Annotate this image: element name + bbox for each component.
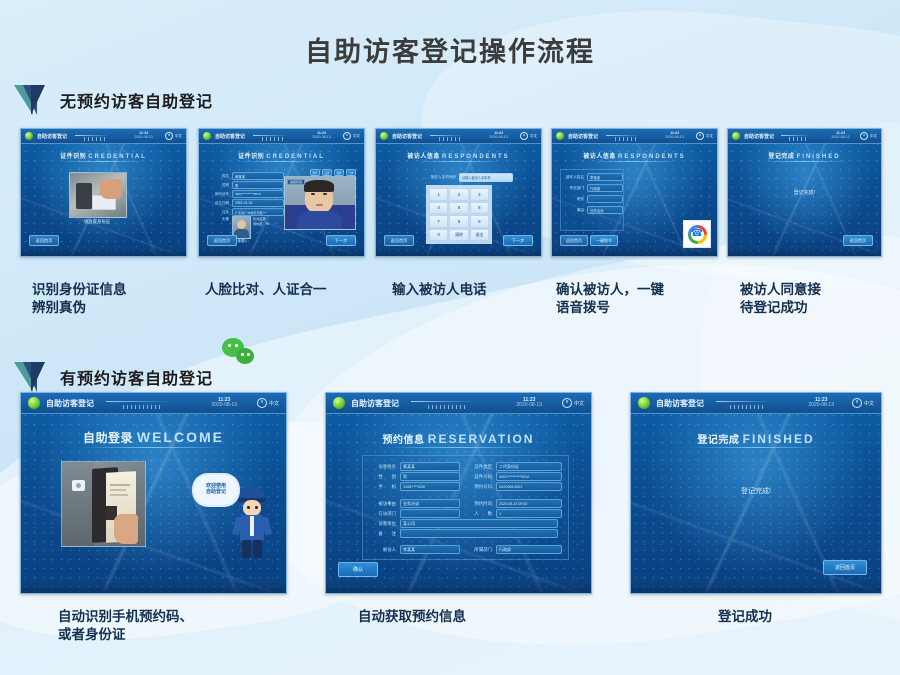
phone-input-label: 被访人手机号码 [426,175,456,180]
confirm-button[interactable]: 确认 [338,562,378,577]
green-circle-logo-icon [28,397,40,409]
screen-heading: 预约信息 RESERVATION [326,431,591,446]
kiosk-app-title: 自助访客登记 [568,133,598,140]
caption-step-1: 识别身份证信息 辨别真伪 [32,281,192,317]
kiosk-app-title: 自助访客登记 [215,133,245,140]
field-value[interactable]: 业务洽谈 [587,206,623,214]
mascot-speech-bubble: 欢迎使用 自助登记 [194,475,238,505]
kiosk-clock: 11:23 2020-08-13 [665,132,683,140]
field-value[interactable]: 男 [232,181,284,189]
field-row: 在访部门 [370,509,460,518]
kiosk-clock: 11:23 2020-08-13 [134,132,152,140]
kiosk-clock: 11:23 2020-08-13 [831,132,849,140]
field-value[interactable]: 1991-01-01 [232,199,284,207]
keypad-key-7[interactable]: 7 [429,215,448,228]
camera-badge: 拍照核验 [287,179,305,185]
camera-tool-refresh[interactable]: 刷新 [310,169,320,176]
photo-caption: 请放置身份证 [69,219,125,225]
field-row: 被访人姓名 李某某 [564,173,623,181]
scan-preview-photo [61,461,146,547]
kiosk-app-title: 自助访客登记 [656,398,704,409]
field-row: 手 机 1351****228 [370,482,460,491]
keypad-key-5[interactable]: 5 [449,202,468,215]
green-circle-logo-icon [25,132,33,140]
caption-step-6: 自动识别手机预约码、 或者身份证 [58,608,288,644]
gear-icon[interactable] [520,132,528,140]
id-scan-photo [69,172,127,218]
finish-message: 登记完成! [728,189,881,196]
screen-heading: 证件识别 CREDENTIAL [199,151,364,160]
field-row: 备 注 [370,529,558,538]
kiosk-clock: 11:23 2020-08-13 [312,132,330,140]
field-value[interactable]: 黄某某 [232,172,284,180]
kiosk-app-title: 自助访客登记 [46,398,94,409]
field-row: 身份证号 4401**********0012 [209,190,284,198]
section-heading-walkin: 无预约访客自助登记 [14,85,213,115]
field-value[interactable]: 李某某 [400,545,460,554]
kiosk-clock: 11:23 2020-08-13 [211,398,237,409]
green-circle-logo-icon [333,397,345,409]
field-row: 事由 业务洽谈 [564,206,623,214]
gear-icon[interactable] [852,398,862,408]
field-row: 所在部门 行政部 [564,184,623,192]
kiosk-settings[interactable]: 中文 [520,132,537,140]
page-title: 自助访客登记操作流程 [0,30,900,69]
field-value[interactable]: 李某某 [587,173,623,181]
gear-icon[interactable] [257,398,267,408]
field-value[interactable] [400,509,460,518]
camera-tool-fullscreen[interactable]: 全屏 [346,169,356,176]
v-marker-icon [14,85,52,115]
green-circle-logo-icon [380,132,388,140]
field-value[interactable]: 1 [496,509,562,518]
keypad-key-1[interactable]: 1 [429,188,448,201]
back-button[interactable]: 返回首页 [560,235,588,246]
v-marker-icon [14,362,52,392]
kiosk-settings[interactable]: 中文 [165,132,182,140]
keypad-key-4[interactable]: 4 [429,202,448,215]
wechat-icon [222,338,256,368]
field-value[interactable]: 1351****228 [400,482,460,491]
green-circle-logo-icon [203,132,211,140]
kiosk-settings[interactable]: 中文 [860,132,877,140]
kiosk-screen-reservation[interactable]: 自助访客登记 11:23 2020-08-13 中文 预约信息 RESERVAT… [325,392,592,594]
home-button[interactable]: 返回首页 [823,560,867,575]
field-row: 证件号码 4401**********0012 [466,472,562,481]
phone-input[interactable]: 请输入被访人手机号 [459,173,513,182]
call-button[interactable]: 一键拨号 [590,235,618,246]
field-row: 证件类型 二代身份证 [466,462,562,471]
camera-tool-snapshot[interactable]: 截图 [334,169,344,176]
kiosk-screen-credential[interactable]: 自助访客登记 11:23 2020-08-13 中文 证件识别 CREDENTI… [20,128,187,257]
green-circle-logo-icon [556,132,564,140]
numeric-keypad[interactable]: 1 2 3 4 5 6 7 8 9 0 清除 退出 [426,185,492,244]
back-button[interactable]: 返回首页 [207,235,237,246]
field-row: 性别 男 [209,181,284,189]
field-value[interactable]: 某公司 [400,519,558,528]
camera-toolbar[interactable]: 刷新 设置 截图 全屏 [310,169,356,176]
kiosk-screen-credential-match[interactable]: 自助访客登记 11:23 2020-08-13 中文 证件识别 CREDENTI… [198,128,365,257]
field-value[interactable]: 二代身份证 [496,462,562,471]
next-button[interactable]: 下一步 [326,235,356,246]
field-row: 性 别 男 [370,472,460,481]
field-value[interactable]: 2020-08-13 09:30 [496,499,562,508]
field-value[interactable]: 4401**********0012 [232,190,284,198]
kiosk-clock: 11:23 2020-08-13 [489,132,507,140]
kiosk-clock: 11:23 2020-08-13 [516,398,542,409]
field-row: 被访事由 业务洽谈 [370,499,460,508]
field-value[interactable]: 男 [400,472,460,481]
field-row: 预约时间 2020-08-13 09:30 [466,499,562,508]
gear-icon[interactable] [165,132,173,140]
kiosk-app-title: 自助访客登记 [744,133,774,140]
kiosk-app-title: 自助访客登记 [37,133,67,140]
kiosk-screen-finished[interactable]: 自助访客登记 11:23 2020-08-13 中文 登记完成 FINISHED… [727,128,882,257]
portrait-side-note: 比对结果相似度：99 [253,217,269,227]
field-row: 预约号码 20200813001 [466,482,562,491]
field-value[interactable]: 业务洽谈 [400,499,460,508]
police-mascot-icon: 欢迎使用 自助登记 [194,475,272,559]
section-heading-reserved: 有预约访客自助登记 [14,362,213,392]
field-value[interactable]: 行政部 [587,184,623,192]
field-value[interactable]: 行政部 [496,545,562,554]
field-value[interactable]: 20200813001 [496,482,562,491]
field-row: 姓名 黄某某 [209,172,284,180]
screen-heading: 登记完成 FINISHED [631,431,881,446]
caption-step-4: 确认被访人，一键 语音拨号 [556,281,726,317]
kiosk-settings[interactable]: 中文 [257,398,279,408]
gear-icon[interactable] [343,132,351,140]
field-row: 人 数 1 [466,509,562,518]
field-row: 被访人 李某某 [370,545,460,554]
finish-message: 登记完成! [631,486,881,496]
kiosk-app-title: 自助访客登记 [351,398,399,409]
kiosk-screen-respondents-confirm[interactable]: 自助访客登记 11:23 2020-08-13 中文 被访人信息 RESPOND… [551,128,718,257]
phone-input-row[interactable]: 被访人手机号码 请输入被访人手机号 [426,173,513,182]
green-circle-logo-icon [638,397,650,409]
field-row: 所属部门 行政部 [466,545,562,554]
phone-call-icon[interactable]: ☎ [688,225,707,244]
field-row: 头像 [209,217,229,222]
keypad-key-3[interactable]: 3 [470,188,489,201]
kiosk-settings[interactable]: 中文 [343,132,360,140]
green-circle-logo-icon [732,132,740,140]
back-button[interactable]: 返回首页 [384,235,414,246]
keypad-key-0[interactable]: 0 [429,229,448,242]
caption-step-5: 被访人同意接 待登记成功 [740,281,890,317]
field-row: 访客单位 某公司 [370,519,558,528]
gear-icon[interactable] [562,398,572,408]
field-row: 出生日期 1991-01-01 [209,199,284,207]
kiosk-screen-respondents-input[interactable]: 自助访客登记 11:23 2020-08-13 中文 被访人信息 RESPOND… [375,128,542,257]
field-value[interactable] [400,529,558,538]
section-label: 有预约访客自助登记 [60,365,213,389]
keypad-key-9[interactable]: 9 [470,215,489,228]
kiosk-app-title: 自助访客登记 [392,133,422,140]
keypad-key-2[interactable]: 2 [449,188,468,201]
screen-heading: 被访人信息 RESPONDENTS [376,151,541,160]
caption-step-7: 自动获取预约信息 [358,608,588,626]
keypad-key-clear[interactable]: 清除 [449,229,468,242]
screen-heading: 证件识别 CREDENTIAL [21,151,186,160]
caption-step-2: 人脸比对、人证合一 [205,281,380,299]
field-row: 职务 [564,195,623,203]
field-value[interactable]: 广东省广州市天河区*** [232,208,284,216]
keypad-key-exit[interactable]: 退出 [470,229,489,242]
keypad-key-6[interactable]: 6 [470,202,489,215]
kiosk-screen-finished-2[interactable]: 自助访客登记 11:23 2020-08-13 中文 登记完成 FINISHED… [630,392,882,594]
screen-heading: 登记完成 FINISHED [728,151,881,160]
field-value[interactable]: 4401**********0012 [496,472,562,481]
caption-step-3: 输入被访人电话 [392,281,552,299]
back-button[interactable]: 返回首页 [29,235,59,246]
camera-feed: 拍照核验 [284,176,356,230]
screen-heading: 自助登录 WELCOME [21,429,286,446]
home-button[interactable]: 返回首页 [843,235,873,246]
keypad-key-8[interactable]: 8 [449,215,468,228]
kiosk-settings[interactable]: 中文 [562,398,584,408]
field-row: 住址 广东省广州市天河区*** [209,208,284,216]
kiosk-settings[interactable]: 中文 [852,398,874,408]
field-value[interactable] [587,195,623,203]
camera-tool-settings[interactable]: 设置 [322,169,332,176]
gear-icon[interactable] [860,132,868,140]
screen-heading: 被访人信息 RESPONDENTS [552,151,717,160]
kiosk-settings[interactable]: 中文 [696,132,713,140]
caption-step-8: 登记成功 [718,608,878,626]
kiosk-screen-welcome[interactable]: 自助访客登记 11:23 2020-08-13 中文 自助登录 WELCOME … [20,392,287,594]
section-label: 无预约访客自助登记 [60,88,213,112]
phone-call-button[interactable]: ☎ [683,220,711,248]
field-value[interactable]: 黄某某 [400,462,460,471]
kiosk-clock: 11:23 2020-08-13 [808,398,834,409]
field-row: 访客姓名 黄某某 [370,462,460,471]
gear-icon[interactable] [696,132,704,140]
next-button[interactable]: 下一步 [503,235,533,246]
